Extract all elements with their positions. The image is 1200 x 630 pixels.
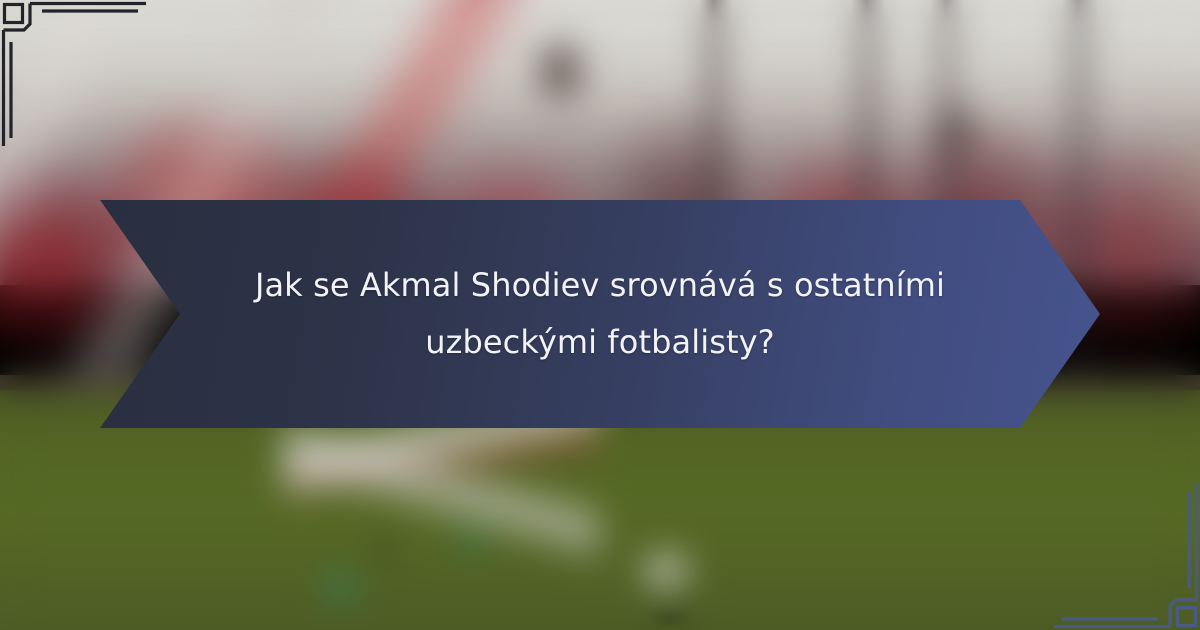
question-card: Jak se Akmal Shodiev srovnává s ostatním… [0, 0, 1200, 630]
question-line-1: Jak se Akmal Shodiev srovnává s ostatním… [255, 257, 945, 314]
question-line-2: uzbeckými fotbalisty? [255, 314, 945, 371]
question-ribbon-content: Jak se Akmal Shodiev srovnává s ostatním… [125, 257, 1075, 371]
question-ribbon: Jak se Akmal Shodiev srovnává s ostatním… [100, 200, 1100, 428]
